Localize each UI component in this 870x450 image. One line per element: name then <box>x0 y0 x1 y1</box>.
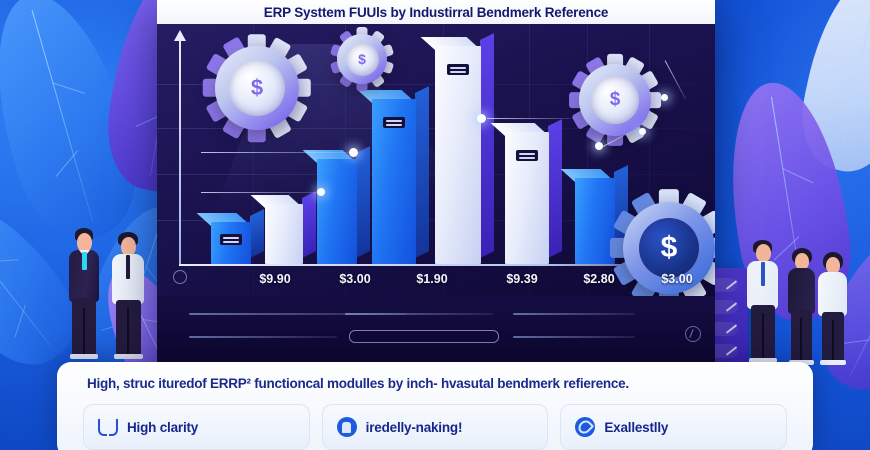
chart-title: ERP Systtem FUUls by Industirral Bendmer… <box>264 5 608 20</box>
dollar-glyph: $ <box>661 233 678 263</box>
y-axis <box>179 38 181 264</box>
person-illustration <box>812 252 854 364</box>
data-node <box>477 114 486 123</box>
bar-7[interactable] <box>575 178 615 264</box>
origin-marker <box>173 270 187 284</box>
brand-mark-icon <box>685 326 701 342</box>
dollar-glyph: $ <box>251 77 263 99</box>
data-node <box>349 148 358 157</box>
data-node <box>639 128 646 135</box>
screenshot-root: ERP Systtem FUUls by Industirral Bendmer… <box>0 0 870 450</box>
person-illustration <box>106 232 152 360</box>
bar-1[interactable] <box>211 222 251 264</box>
footer-chip-ready-making[interactable]: iredelly-naking! <box>322 404 549 450</box>
footer-caption: High, struc ituredof ERRP² functioncal m… <box>87 376 789 391</box>
x-tick-label: $9.90 <box>259 272 290 286</box>
window-titlebar: ERP Systtem FUUls by Industirral Bendmer… <box>157 0 715 24</box>
gear-dollar-icon: $ <box>579 64 651 136</box>
x-tick-label: $3.00 <box>339 272 370 286</box>
bar-2[interactable] <box>265 204 303 264</box>
data-node <box>317 188 325 196</box>
bar-5[interactable] <box>435 46 481 264</box>
dollar-glyph: $ <box>358 52 366 66</box>
dashboard-info-strip <box>157 296 715 364</box>
footer-chip-high-clarity[interactable]: High clarity <box>83 404 310 450</box>
gear-dollar-icon: $ <box>337 34 387 84</box>
bar-3[interactable] <box>317 159 357 264</box>
chart-canvas: $ $ $ <box>157 24 715 364</box>
person-illustration <box>62 228 108 360</box>
gear-dollar-icon: $ <box>215 46 299 130</box>
footer-chip-label: Exallestlly <box>604 420 668 435</box>
strip-pill <box>349 330 499 343</box>
dashboard-window: ERP Systtem FUUls by Industirral Bendmer… <box>157 0 715 364</box>
document-circle-icon <box>337 417 357 437</box>
drop-circle-icon <box>575 417 595 437</box>
x-tick-label: $9.39 <box>506 272 537 286</box>
footer-chip-label: High clarity <box>127 420 198 435</box>
footer-chip-label: iredelly-naking! <box>366 420 463 435</box>
footer-chip-list: High clarity iredelly-naking! Exallestll… <box>83 404 787 450</box>
bar-6[interactable] <box>505 132 549 264</box>
person-illustration <box>742 240 786 364</box>
x-tick-label: $1.90 <box>416 272 447 286</box>
dollar-glyph: $ <box>610 90 621 109</box>
bar-4[interactable] <box>372 99 416 264</box>
x-tick-label: $2.80 <box>583 272 614 286</box>
data-node <box>661 94 668 101</box>
x-tick-label: $3.00 <box>661 272 692 286</box>
footer-chip-excellently[interactable]: Exallestlly <box>560 404 787 450</box>
brackets-icon <box>98 417 118 437</box>
footer-card: High, struc ituredof ERRP² functioncal m… <box>57 362 813 450</box>
